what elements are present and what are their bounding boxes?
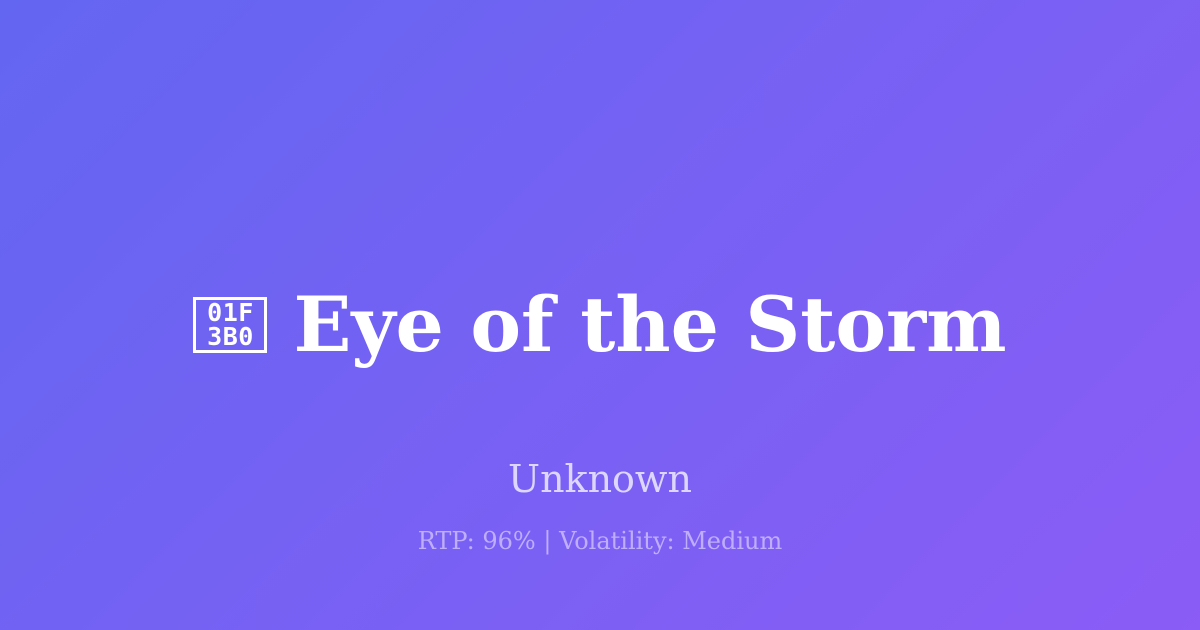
page-title: Eye of the Storm — [293, 287, 1006, 363]
tofu-codepoint-lower: 3B0 — [207, 325, 254, 349]
slot-machine-icon: 01F 3B0 — [193, 297, 267, 353]
title-row: 01F 3B0 Eye of the Storm — [193, 236, 1006, 414]
game-stats-line: RTP: 96% | Volatility: Medium — [0, 529, 1200, 553]
og-card: 01F 3B0 Eye of the Storm Unknown RTP: 96… — [0, 0, 1200, 630]
hero-block: 01F 3B0 Eye of the Storm Unknown — [0, 236, 1200, 498]
provider-subtitle: Unknown — [508, 460, 692, 498]
